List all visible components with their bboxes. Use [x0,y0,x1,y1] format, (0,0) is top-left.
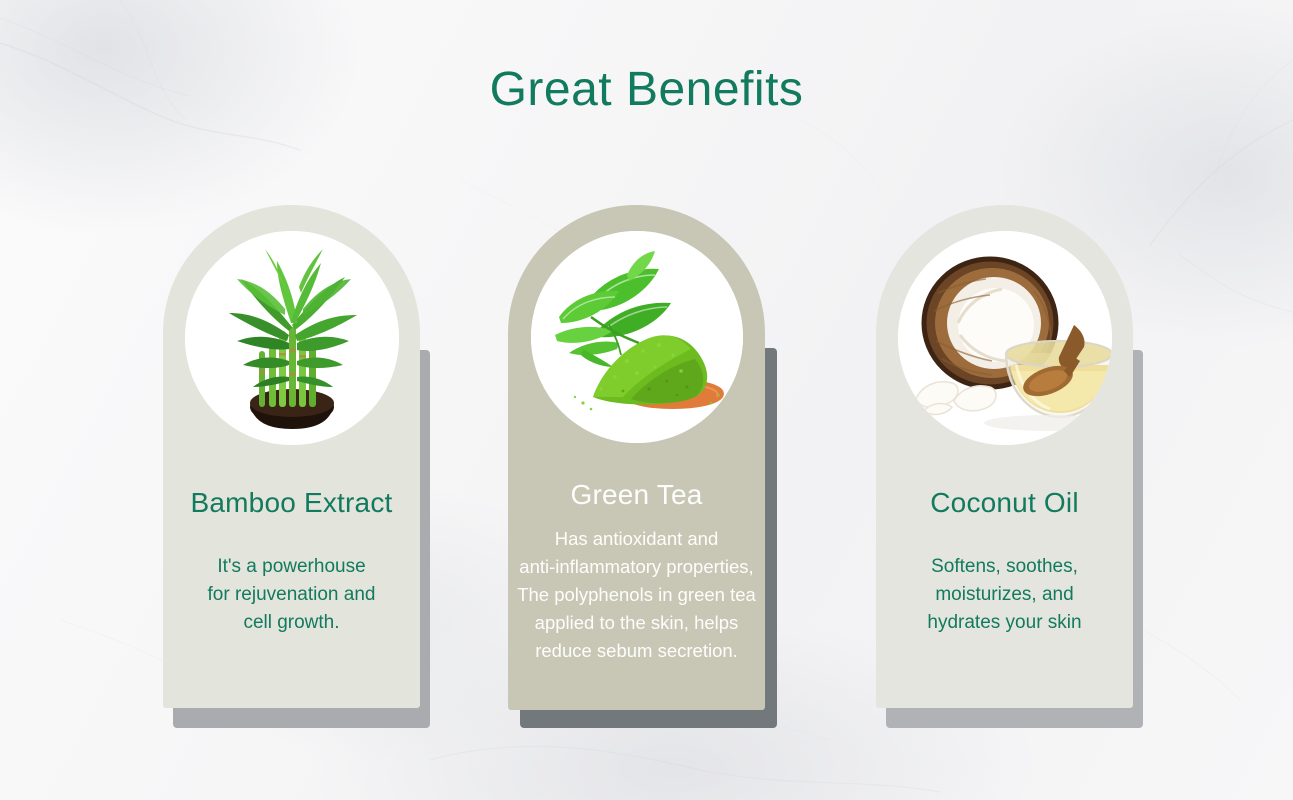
card-title: Bamboo Extract [163,487,420,519]
card-image-circle [898,231,1112,445]
card-body-text: Has antioxidant and anti-inflammatory pr… [508,525,765,665]
card-surface: Bamboo Extract It's a powerhouse for rej… [163,205,420,708]
card-body-text: It's a powerhouse for rejuvenation and c… [163,553,420,637]
benefit-card-coconut-oil[interactable]: Coconut Oil Softens, soothes, moisturize… [876,205,1133,708]
card-title: Green Tea [508,479,765,511]
green-tea-leaves-and-matcha-powder-photo [531,231,743,443]
card-body-text: Softens, soothes, moisturizes, and hydra… [876,553,1133,637]
bamboo-plant-photo [185,231,399,445]
card-surface: Coconut Oil Softens, soothes, moisturize… [876,205,1133,708]
card-surface: Green Tea Has antioxidant and anti-infla… [508,205,765,710]
card-image-circle [531,231,743,443]
coconut-and-oil-bowl-photo [898,231,1112,445]
card-title: Coconut Oil [876,487,1133,519]
page-title: Great Benefits [0,62,1293,117]
benefit-card-green-tea[interactable]: Green Tea Has antioxidant and anti-infla… [508,205,765,710]
card-image-circle [185,231,399,445]
benefits-card-row: Bamboo Extract It's a powerhouse for rej… [0,205,1293,745]
benefit-card-bamboo-extract[interactable]: Bamboo Extract It's a powerhouse for rej… [163,205,420,708]
